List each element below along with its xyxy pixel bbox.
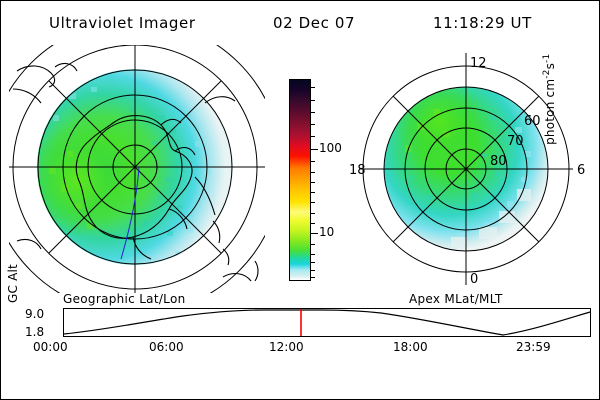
mlat-label-70: 70 (507, 134, 524, 149)
colorbar-minor-tick (311, 262, 315, 263)
colorbar-minor-tick (311, 161, 315, 162)
colorbar-minor-tick (311, 213, 315, 214)
mlt-label-6: 6 (577, 163, 585, 178)
apex-mlat-mlt-plot[interactable]: 12 18 6 0 60 70 80 (339, 45, 593, 293)
orbit-xtick-1200: 12:00 (269, 341, 304, 353)
colorbar-minor-tick (311, 182, 315, 183)
colorbar-minor-tick (311, 223, 315, 224)
geographic-plot-caption: Geographic Lat/Lon (63, 293, 186, 305)
colorbar-minor-tick (311, 270, 315, 271)
mlt-spokes (359, 53, 573, 285)
colorbar-minor-tick (311, 100, 315, 101)
orbit-ytick-top: 9.0 (25, 308, 44, 320)
colorbar-minor-tick (311, 112, 315, 113)
orbit-xtick-0000: 00:00 (33, 341, 68, 353)
orbit-xtick-2359: 23:59 (516, 341, 551, 353)
colorbar-minor-tick (311, 192, 315, 193)
mlat-label-80: 80 (490, 154, 507, 169)
colorbar-minor-tick (311, 87, 315, 88)
uvi-image-viewer: Ultraviolet Imager 02 Dec 07 11:18:29 UT (0, 0, 600, 400)
colorbar-minor-tick (311, 277, 315, 278)
status-block: Flt: LBHL Door: Open Mode: Normal GC Alt… (1, 363, 600, 399)
orbit-xtick-0600: 06:00 (149, 341, 184, 353)
mlt-label-0: 0 (470, 272, 478, 287)
mlat-label-60: 60 (524, 114, 541, 129)
colorbar-gradient (289, 79, 311, 281)
orbit-altitude-plot[interactable] (63, 308, 591, 337)
apex-plot-caption: Apex MLat/MLT (409, 293, 503, 305)
colorbar-minor-tick (311, 202, 315, 203)
apex-plot-svg: 12 18 6 0 60 70 80 (339, 45, 593, 293)
mlt-label-18: 18 (349, 163, 366, 178)
mlt-label-12: 12 (470, 56, 487, 71)
colorbar-tick-100 (311, 149, 318, 150)
colorbar-tick-10 (311, 233, 318, 234)
header-bar: Ultraviolet Imager 02 Dec 07 11:18:29 UT (1, 7, 600, 31)
colorbar-minor-tick (311, 136, 315, 137)
instrument-title: Ultraviolet Imager (49, 16, 196, 31)
observation-time: 11:18:29 UT (433, 16, 532, 31)
orbit-ytick-bottom: 1.8 (25, 326, 44, 338)
orbit-plot-svg (63, 308, 591, 337)
orbit-xtick-1800: 18:00 (393, 341, 428, 353)
geographic-plot[interactable] (9, 45, 265, 293)
geographic-plot-svg (9, 45, 265, 293)
colorbar-minor-tick (311, 244, 315, 245)
colorbar-minor-tick (311, 124, 315, 125)
colorbar-tick-label-10: 10 (319, 226, 334, 238)
colorbar-minor-tick (311, 172, 315, 173)
observation-date: 02 Dec 07 (273, 16, 355, 31)
orbit-axis-label: GC Alt (7, 264, 19, 303)
colorbar-minor-tick (311, 254, 315, 255)
